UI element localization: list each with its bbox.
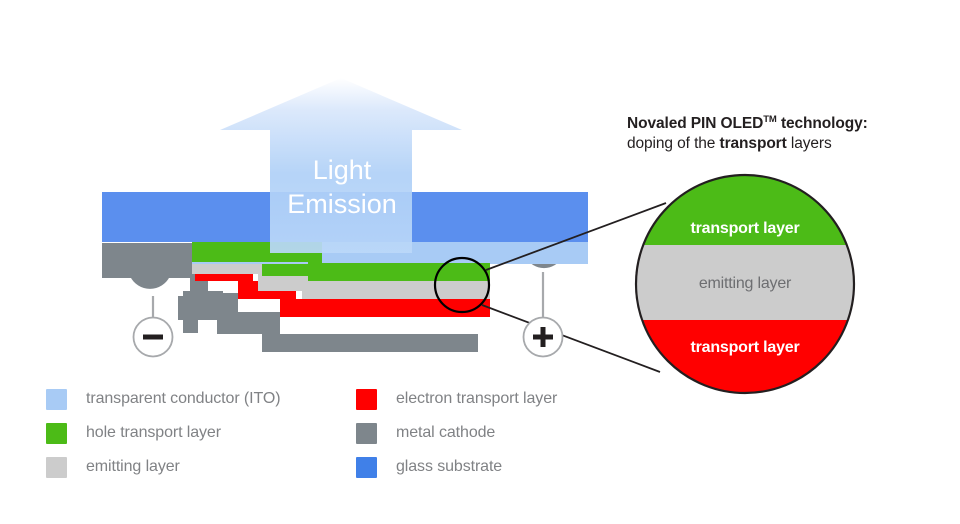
legend-label-emitting: emitting layer xyxy=(86,458,180,476)
legend-swatch-electron-transport xyxy=(356,389,377,410)
callout-title-line2-suffix: layers xyxy=(787,135,832,152)
positive-electrode xyxy=(524,272,563,357)
callout-title-line1-suffix: technology: xyxy=(777,115,868,132)
magnifier-band-middle xyxy=(630,245,862,320)
legend-label-electron-transport: electron transport layer xyxy=(396,390,557,408)
magnifier-band-bottom xyxy=(630,320,862,400)
magnifier-circle xyxy=(630,170,862,400)
callout-title-line1: Novaled PIN OLEDTM technology: xyxy=(627,110,927,134)
legend-item-electron-transport: electron transport layer xyxy=(356,382,557,416)
legend-item-emitting: emitting layer xyxy=(46,450,280,484)
legend-label-ito: transparent conductor (ITO) xyxy=(86,390,280,408)
legend-item-ito: transparent conductor (ITO) xyxy=(46,382,280,416)
legend-swatch-hole-transport xyxy=(46,423,67,444)
legend-column-left: transparent conductor (ITO) hole transpo… xyxy=(46,382,280,484)
legend-label-glass-substrate: glass substrate xyxy=(396,458,502,476)
trademark-mark: TM xyxy=(763,114,777,125)
callout-title-line1-prefix: Novaled PIN OLED xyxy=(627,115,763,132)
legend-item-hole-transport: hole transport layer xyxy=(46,416,280,450)
magnifier-band-top xyxy=(630,170,862,245)
legend-label-metal-cathode: metal cathode xyxy=(396,424,495,442)
legend-item-metal-cathode: metal cathode xyxy=(356,416,557,450)
callout-title: Novaled PIN OLEDTM technology: doping of… xyxy=(627,110,927,154)
legend-swatch-glass-substrate xyxy=(356,457,377,478)
callout-title-line2-prefix: doping of the xyxy=(627,135,720,152)
diagram-canvas: Light Emission transport layer emitting … xyxy=(0,0,960,524)
legend-swatch-metal-cathode xyxy=(356,423,377,444)
legend-swatch-emitting xyxy=(46,457,67,478)
legend-swatch-ito xyxy=(46,389,67,410)
legend-item-glass-substrate: glass substrate xyxy=(356,450,557,484)
legend-label-hole-transport: hole transport layer xyxy=(86,424,221,442)
callout-title-line2: doping of the transport layers xyxy=(627,134,927,154)
callout-title-line2-bold: transport xyxy=(720,135,787,152)
legend-column-right: electron transport layer metal cathode g… xyxy=(356,382,557,484)
negative-electrode xyxy=(134,296,173,357)
